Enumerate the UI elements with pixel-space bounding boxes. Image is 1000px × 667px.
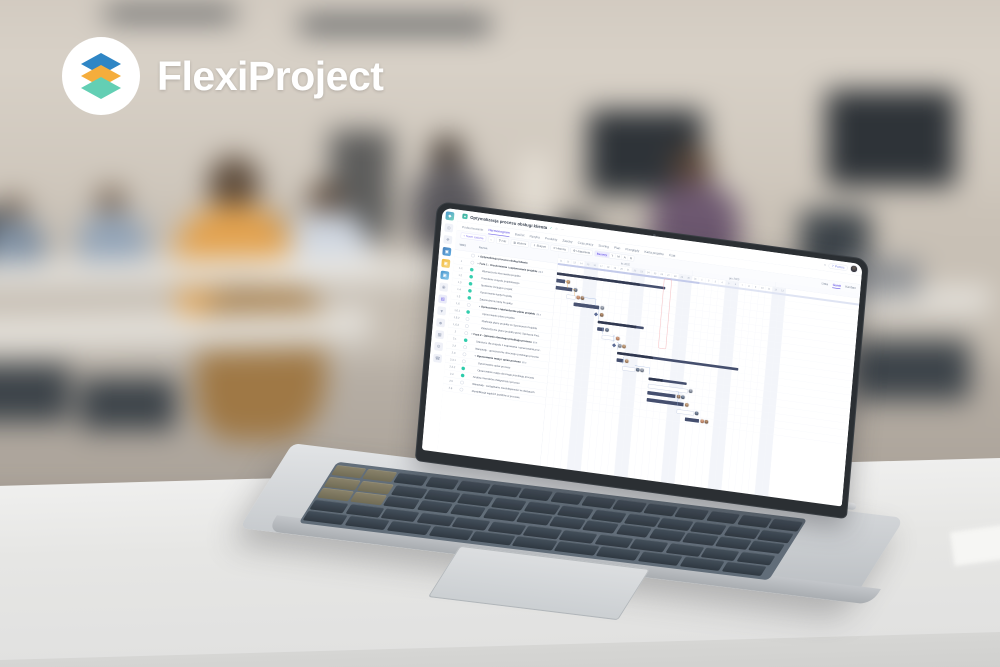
row-wbs: 1.2: [453, 273, 468, 278]
brand-logo: FlexiProject: [62, 37, 383, 115]
assignee-avatar[interactable]: [622, 344, 627, 349]
zoom-r-button[interactable]: R: [628, 255, 634, 261]
new-task-caret[interactable]: ⌄: [488, 236, 495, 243]
gantt-bar[interactable]: [556, 279, 565, 284]
row-wbs: 1.4: [451, 287, 466, 292]
support-icon[interactable]: ☎: [433, 354, 442, 363]
row-wbs: 1: [454, 259, 469, 264]
reports-icon[interactable]: ▤: [438, 294, 447, 303]
project-tile-icon: ■: [462, 213, 468, 219]
assignee-avatar[interactable]: [600, 305, 605, 310]
tab-czat[interactable]: Czat: [669, 253, 676, 259]
assignee-avatar[interactable]: [639, 368, 644, 373]
more-icon[interactable]: ⋯: [560, 228, 564, 232]
logo-mark: [62, 37, 140, 115]
row-wbs: 1.3: [452, 280, 467, 285]
chart-icon: ▥: [513, 241, 516, 245]
chart-label: Wykres: [517, 241, 526, 245]
project-blue-icon[interactable]: ▣: [442, 247, 451, 256]
laptop: ◆◎❖▣▣▣◉▤▼☻▦⚙☎ ■ Optymalizacja procesu ob…: [266, 222, 896, 652]
chevron-down-icon[interactable]: ▾: [475, 355, 476, 357]
task-table: WBS Nazwa ▾Optymalizacja procesu obsługi…: [436, 239, 558, 477]
screenshot-root: FlexiProject ◆◎❖▣▣▣◉▤▼☻▦⚙☎ ■ Optymalizac…: [0, 0, 1000, 667]
view-kanban[interactable]: Kanban: [845, 285, 856, 291]
assignee-avatar[interactable]: [704, 419, 709, 424]
gantt-bar-progress: [648, 377, 662, 381]
assignee-avatar[interactable]: [694, 411, 699, 416]
row-wbs: 2.1: [447, 336, 462, 341]
gantt-bar[interactable]: [685, 417, 699, 422]
stacked-diamonds-icon: [75, 50, 127, 102]
dashboard-icon[interactable]: ◎: [444, 223, 453, 232]
settings-label: Ustawienia: [576, 249, 590, 254]
gantt-bar-progress: [556, 279, 565, 284]
assignee-avatar[interactable]: [615, 336, 620, 341]
funnel-icon[interactable]: ▼: [437, 306, 446, 315]
help-button[interactable]: ? Pomoc: [828, 263, 848, 271]
help-icon: ?: [832, 264, 834, 268]
chevron-down-icon[interactable]: ▾: [478, 255, 479, 257]
assignee-avatar[interactable]: [684, 402, 689, 407]
view-gantt[interactable]: Gantt: [832, 283, 840, 289]
portfolio-icon[interactable]: ◉: [439, 282, 448, 291]
row-wbs: 2: [448, 329, 463, 334]
assignee-avatar[interactable]: [688, 389, 693, 394]
export-label: Eksport: [537, 244, 547, 248]
gear-icon: ⚙: [573, 249, 576, 253]
project-yellow-icon[interactable]: ▣: [441, 259, 450, 268]
gantt-timeline[interactable]: lis 2025gru 2025 11121314151617181920212…: [539, 252, 860, 506]
assignee-avatar[interactable]: [604, 327, 609, 332]
view-lista[interactable]: Lista: [821, 282, 828, 288]
gantt-bar-progress: [685, 417, 699, 422]
row-wbs: 2.2: [447, 343, 462, 348]
row-wbs: 1.6.1: [450, 308, 465, 313]
row-badge: (0) 2: [522, 361, 527, 364]
chevron-down-icon[interactable]: ▾: [471, 333, 472, 335]
app-logo-icon[interactable]: ◆: [445, 211, 454, 220]
new-task-label: Nowe zadanie: [466, 234, 484, 240]
assignee-avatar[interactable]: [680, 395, 685, 400]
star-icon[interactable]: ☆: [555, 227, 558, 231]
row-badge: (0) 6: [533, 341, 538, 344]
row-wbs: 2.5: [444, 379, 459, 384]
settings-icon[interactable]: ⚙: [434, 342, 443, 351]
tab-budżet[interactable]: Budżet: [514, 233, 524, 239]
row-wbs: 2.4: [444, 372, 459, 377]
assignee-avatar[interactable]: [599, 312, 604, 317]
assignee-avatar[interactable]: [624, 359, 629, 364]
row-wbs: 1.6: [450, 301, 465, 306]
milestone-marker[interactable]: [612, 343, 616, 347]
row-wbs: 1.1: [453, 266, 468, 271]
check-icon[interactable]: ✓: [550, 226, 553, 230]
projects-icon[interactable]: ❖: [443, 235, 452, 244]
paper-sheet: [950, 524, 1000, 566]
help-label: Pomoc: [835, 265, 845, 270]
row-badge: (0) 3: [536, 313, 541, 316]
history-icon: ↺: [553, 246, 556, 250]
notifications-icon[interactable]: ○: [824, 263, 826, 267]
chevron-down-icon[interactable]: ▾: [477, 263, 478, 265]
row-wbs: 2.3.1: [445, 357, 460, 362]
resources-icon[interactable]: ☻: [436, 318, 445, 327]
row-wbs: [455, 253, 470, 255]
avatar[interactable]: [850, 265, 858, 273]
project-cyan-icon[interactable]: ▣: [440, 271, 449, 280]
row-wbs: 1.6.3: [448, 322, 463, 327]
chevron-down-icon[interactable]: ▾: [479, 306, 480, 308]
column-name: Nazwa: [470, 244, 487, 250]
export-icon: ⇩: [533, 243, 536, 247]
row-wbs: 2.3: [446, 350, 461, 355]
history-label: Historia: [556, 247, 566, 251]
row-wbs: 2.6: [443, 386, 458, 391]
row-badge: (0) 8: [538, 271, 543, 274]
row-wbs: 1.6.2: [449, 315, 464, 320]
row-wbs: 2.3.2: [445, 365, 460, 370]
brand-name: FlexiProject: [157, 53, 383, 100]
column-wbs: WBS: [455, 242, 470, 247]
row-wbs: 1.5: [451, 294, 466, 299]
gantt-rows[interactable]: [539, 263, 859, 507]
tab-plan[interactable]: Plan: [614, 246, 621, 252]
filter-label: Filtr: [501, 239, 506, 243]
calendar-icon[interactable]: ▦: [435, 330, 444, 339]
